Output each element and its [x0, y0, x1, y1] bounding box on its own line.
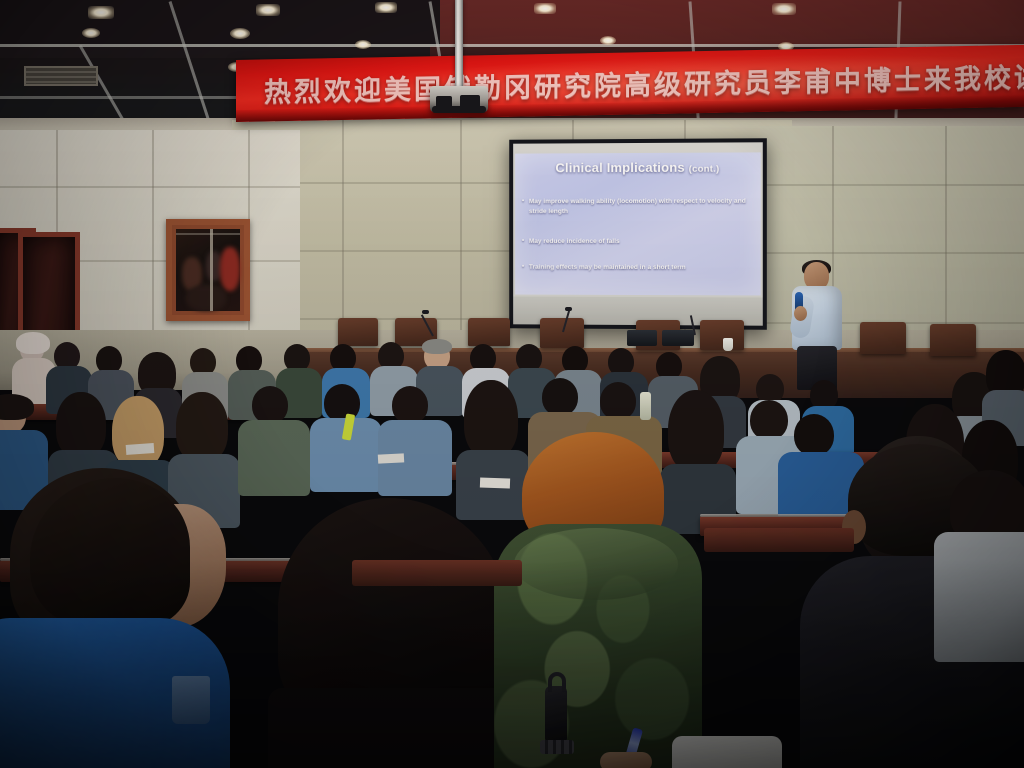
microphone-head: [422, 310, 429, 314]
podium-chair: [338, 318, 378, 346]
paper-sheet: [378, 453, 404, 463]
ceiling-light: [88, 6, 114, 19]
paper-sheet: [126, 443, 155, 455]
ceiling-light: [230, 28, 250, 39]
hand-holding-pen: [600, 752, 652, 768]
microphone-head: [565, 307, 572, 311]
slide-title: Clinical Implications (cont.): [515, 159, 761, 175]
presentation-slide: Clinical Implications (cont.) May improv…: [515, 152, 761, 295]
ceiling-light: [256, 4, 280, 16]
seat-back: [352, 560, 522, 586]
projection-screen: Clinical Implications (cont.) May improv…: [509, 138, 767, 330]
ceiling-light: [82, 28, 100, 38]
podium-chair: [860, 322, 906, 354]
lock-dials: [540, 740, 574, 754]
water-glass: [172, 676, 210, 724]
jacket-hood: [514, 528, 678, 600]
podium-chair: [930, 324, 976, 356]
podium-chair: [540, 318, 584, 348]
slide-bullet: May improve walking ability (locomotion)…: [529, 197, 751, 218]
laptop: [662, 330, 694, 346]
ceiling-light: [534, 3, 556, 14]
podium-chair: [468, 318, 510, 346]
ceiling-light: [355, 40, 371, 49]
speaker-presenter: [786, 262, 848, 390]
slide-bullet: May reduce incidence of falls: [529, 237, 751, 247]
ceiling-light: [600, 36, 616, 45]
lecture-hall-photo: 热烈欢迎美国俄勒冈研究院高级研究员李甫中博士来我校讲学 Clinical Imp…: [0, 0, 1024, 768]
water-bottle: [640, 392, 651, 420]
podium-chair: [700, 320, 744, 350]
wall-vent: [24, 66, 98, 86]
paper-cup: [723, 338, 733, 351]
slide-title-suffix: (cont.): [689, 164, 720, 175]
speaker-hand: [794, 306, 807, 321]
projector-mount-pole: [455, 0, 463, 92]
slide-title-main: Clinical Implications: [555, 160, 684, 176]
slide-bullet: Training effects may be maintained in a …: [529, 263, 751, 274]
seat-back: [704, 528, 854, 552]
combination-lock: [545, 686, 567, 744]
ceiling-light: [375, 2, 397, 13]
laptop: [627, 330, 657, 346]
ceiling-light: [772, 3, 796, 15]
wall-window: [166, 219, 250, 321]
paper-sheet: [480, 477, 510, 488]
projector: [430, 86, 488, 112]
lock-shackle: [548, 672, 566, 692]
white-object: [672, 736, 782, 768]
